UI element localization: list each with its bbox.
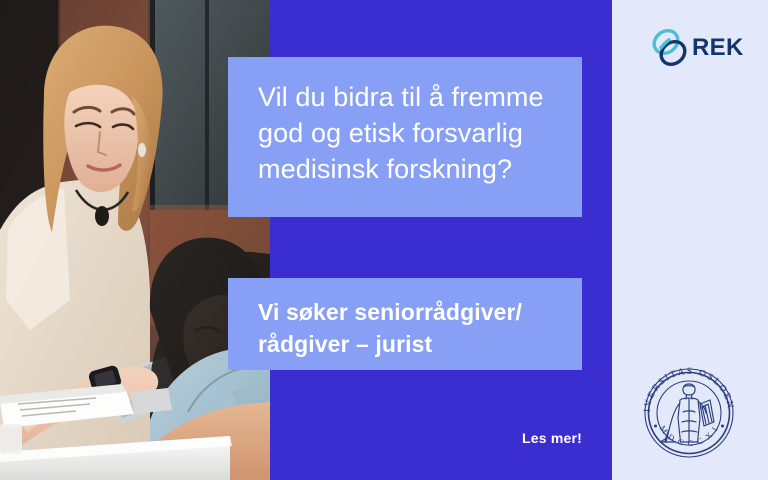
interlocking-rings-icon — [648, 27, 694, 69]
headline-text: Vil du bidra til å fremme god og etisk f… — [258, 79, 556, 187]
role-text: Vi søker seniorrådgiver/ rådgiver – juri… — [258, 296, 556, 360]
recruitment-banner: Vil du bidra til å fremme god og etisk f… — [0, 0, 768, 480]
read-more-link[interactable]: Les mer! — [470, 430, 582, 446]
rek-logo[interactable]: REK — [648, 26, 744, 70]
uio-seal-icon: UNIVERSITAS OSLOENSIS M D C C C X I — [636, 360, 742, 466]
role-card: Vi søker seniorrådgiver/ rådgiver – juri… — [228, 278, 582, 370]
headline-card: Vil du bidra til å fremme god og etisk f… — [228, 57, 582, 217]
rek-wordmark: REK — [692, 36, 744, 60]
